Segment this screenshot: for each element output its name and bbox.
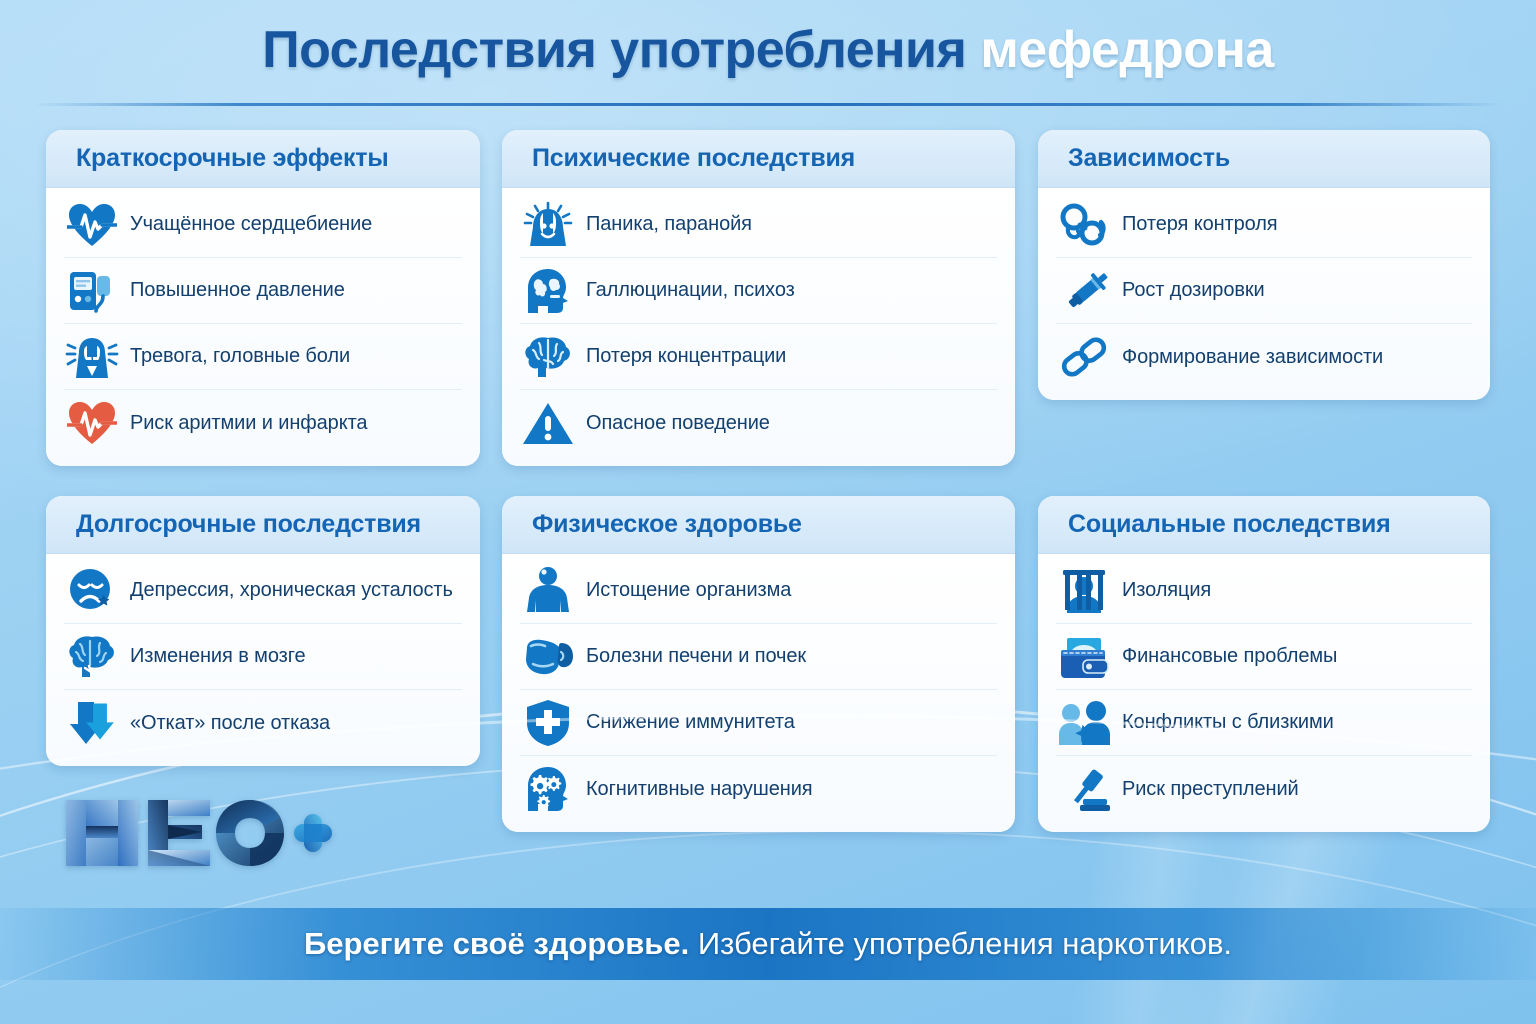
chain-link-icon <box>1056 329 1112 385</box>
exhausted-body-icon <box>520 563 576 619</box>
list-item-label: Риск аритмии и инфаркта <box>130 412 367 435</box>
list-item[interactable]: Паника, паранойя <box>520 192 997 258</box>
logo-letter-n <box>66 800 138 866</box>
list-item[interactable]: Рост дозировки <box>1056 258 1472 324</box>
logo-letter-e <box>148 800 210 866</box>
card-long-term-consequences: Долгосрочные последствия Депрессия, хрон… <box>46 496 480 766</box>
list-item[interactable]: Финансовые проблемы <box>1056 624 1472 690</box>
card-title: Долгосрочные последствия <box>76 510 421 539</box>
list-item[interactable]: Опасное поведение <box>520 390 997 456</box>
card-body: Изоляция Финансовые проблемы <box>1038 554 1490 832</box>
card-title: Зависимость <box>1068 144 1230 173</box>
logo-neo-plus[interactable] <box>62 792 334 879</box>
card-title: Психические последствия <box>532 144 855 173</box>
list-item-label: Опасное поведение <box>586 412 770 435</box>
footer-text: Берегите своё здоровье. Избегайте употре… <box>0 926 1536 962</box>
footer-text-normal: Избегайте употребления наркотиков. <box>698 926 1232 961</box>
list-item-label: Риск преступлений <box>1122 778 1299 801</box>
list-item-label: Финансовые проблемы <box>1122 645 1337 668</box>
logo-letter-o <box>216 800 284 866</box>
warning-triangle-icon <box>520 395 576 451</box>
page-title-dark: Последствия употребления <box>262 21 966 79</box>
title-block: Последствия употребления мефедрона <box>0 22 1536 79</box>
sad-face-icon <box>64 563 120 619</box>
card-header: Краткосрочные эффекты <box>46 130 480 188</box>
card-header: Социальные последствия <box>1038 496 1490 554</box>
handcuffs-icon <box>1056 197 1112 253</box>
list-item[interactable]: Учащённое сердцебиение <box>64 192 462 258</box>
list-item-label: Повышенное давление <box>130 279 345 302</box>
card-header: Зависимость <box>1038 130 1490 188</box>
page-title: Последствия употребления мефедрона <box>0 22 1536 79</box>
list-item-label: Когнитивные нарушения <box>586 778 813 801</box>
list-item[interactable]: Болезни печени и почек <box>520 624 997 690</box>
list-item-label: Изменения в мозге <box>130 645 305 668</box>
list-item[interactable]: Конфликты с близкими <box>1056 690 1472 756</box>
list-item-label: Истощение организма <box>586 579 791 602</box>
list-item[interactable]: Снижение иммунитета <box>520 690 997 756</box>
shield-cross-icon <box>520 695 576 751</box>
logo-letter-plus <box>294 814 332 852</box>
heart-pulse-icon <box>64 197 120 253</box>
card-body: Истощение организма Болезни печени и поч… <box>502 554 1015 832</box>
blood-pressure-monitor-icon <box>64 263 120 319</box>
conflict-people-icon <box>1056 695 1112 751</box>
red-heart-pulse-icon <box>64 395 120 451</box>
list-item[interactable]: Галлюцинации, психоз <box>520 258 997 324</box>
list-item-label: Потеря концентрации <box>586 345 786 368</box>
panic-face-icon <box>520 197 576 253</box>
card-header: Физическое здоровье <box>502 496 1015 554</box>
list-item[interactable]: Потеря концентрации <box>520 324 997 390</box>
liver-kidney-icon <box>520 629 576 685</box>
card-header: Долгосрочные последствия <box>46 496 480 554</box>
card-dependence: Зависимость Потеря контроля <box>1038 130 1490 400</box>
card-short-term-effects: Краткосрочные эффекты Учащённое сердцеби… <box>46 130 480 466</box>
card-title: Физическое здоровье <box>532 510 802 539</box>
gears-head-icon <box>520 761 576 817</box>
list-item[interactable]: Депрессия, хроническая усталость <box>64 558 462 624</box>
list-item-label: Учащённое сердцебиение <box>130 213 372 236</box>
hallucination-head-icon <box>520 263 576 319</box>
list-item-label: Потеря контроля <box>1122 213 1278 236</box>
gavel-icon <box>1056 761 1112 817</box>
syringe-icon <box>1056 263 1112 319</box>
list-item[interactable]: Формирование зависимости <box>1056 324 1472 390</box>
card-mental-consequences: Психические последствия Паника, паранойя <box>502 130 1015 466</box>
list-item-label: Галлюцинации, психоз <box>586 279 795 302</box>
title-divider-rule <box>33 103 1503 106</box>
list-item[interactable]: Повышенное давление <box>64 258 462 324</box>
page-title-light: мефедрона <box>980 21 1273 79</box>
brain-icon <box>520 329 576 385</box>
down-arrows-icon <box>64 695 120 751</box>
card-body: Депрессия, хроническая усталость Изменен… <box>46 554 480 766</box>
list-item[interactable]: Когнитивные нарушения <box>520 756 997 822</box>
card-body: Паника, паранойя Галлюцинации, психоз <box>502 188 1015 466</box>
list-item[interactable]: Риск преступлений <box>1056 756 1472 822</box>
list-item-label: Конфликты с близкими <box>1122 711 1334 734</box>
list-item-label: Изоляция <box>1122 579 1211 602</box>
list-item[interactable]: Изоляция <box>1056 558 1472 624</box>
list-item[interactable]: Тревога, головные боли <box>64 324 462 390</box>
footer-text-strong: Берегите своё здоровье. <box>304 926 689 961</box>
card-body: Учащённое сердцебиение Повышенное давлен… <box>46 188 480 466</box>
card-title: Краткосрочные эффекты <box>76 144 388 173</box>
list-item-label: Болезни печени и почек <box>586 645 806 668</box>
list-item-label: Формирование зависимости <box>1122 346 1383 369</box>
brain-change-icon <box>64 629 120 685</box>
list-item-label: Паника, паранойя <box>586 213 752 236</box>
card-physical-health: Физическое здоровье Истощение организма <box>502 496 1015 832</box>
card-body: Потеря контроля Рост дозировки <box>1038 188 1490 400</box>
list-item[interactable]: «Откат» после отказа <box>64 690 462 756</box>
list-item[interactable]: Истощение организма <box>520 558 997 624</box>
list-item-label: «Откат» после отказа <box>130 712 330 735</box>
headache-head-icon <box>64 329 120 385</box>
card-header: Психические последствия <box>502 130 1015 188</box>
prison-bars-icon <box>1056 563 1112 619</box>
list-item-label: Снижение иммунитета <box>586 711 795 734</box>
list-item-label: Тревога, головные боли <box>130 345 350 368</box>
card-title: Социальные последствия <box>1068 510 1391 539</box>
list-item[interactable]: Риск аритмии и инфаркта <box>64 390 462 456</box>
list-item[interactable]: Изменения в мозге <box>64 624 462 690</box>
list-item-label: Рост дозировки <box>1122 279 1265 302</box>
list-item[interactable]: Потеря контроля <box>1056 192 1472 258</box>
wallet-icon <box>1056 629 1112 685</box>
list-item-label: Депрессия, хроническая усталость <box>130 579 453 602</box>
card-social-consequences: Социальные последствия Изоляция <box>1038 496 1490 832</box>
